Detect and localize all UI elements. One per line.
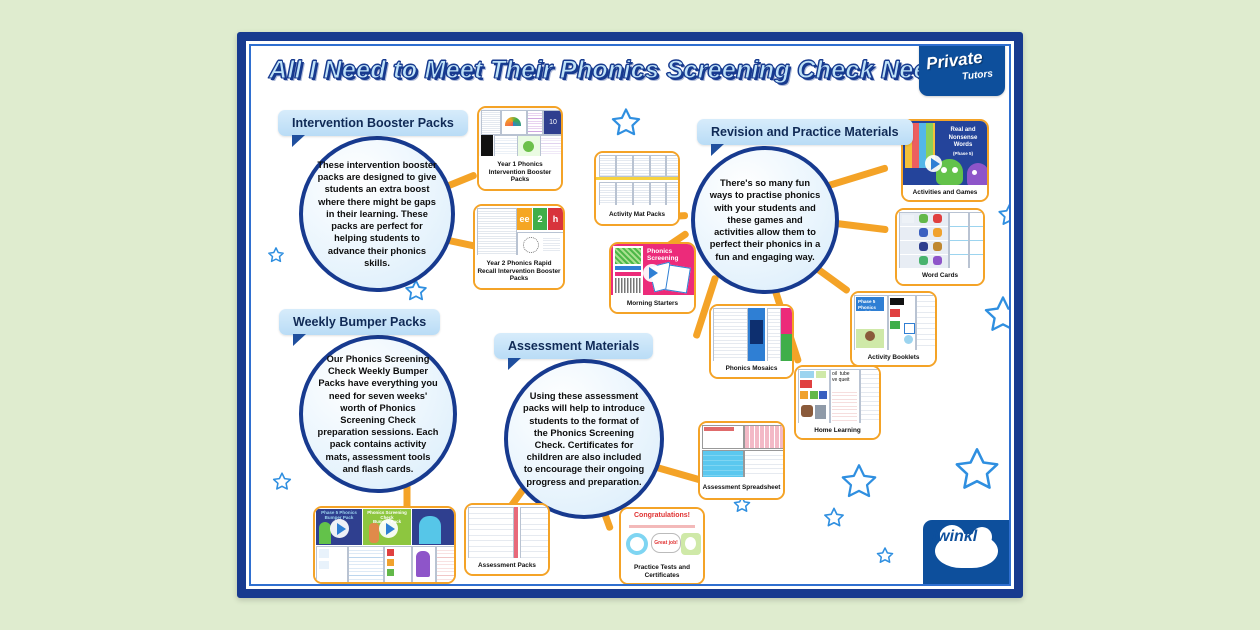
bubble-revision-and-practice-materials: There's so many fun ways to practise pho…	[691, 146, 839, 294]
thumbnail-caption: Home Learning	[796, 423, 879, 438]
star-icon	[875, 546, 895, 565]
tag-intervention-booster-packs[interactable]: Intervention Booster Packs	[278, 110, 468, 136]
thumbnail-activities-and-games[interactable]: Real andNonsense Words(Phase 5) Activiti…	[901, 119, 989, 202]
thumbnail-year-1-phonics-intervention-booster-packs[interactable]: 10 Year 1 Phonics Intervention Booster P…	[477, 106, 563, 191]
thumbnail-caption: Year 1 Phonics Intervention Booster Pack…	[479, 156, 561, 189]
star-icon	[838, 461, 880, 502]
star-icon	[822, 506, 846, 529]
twinkl-logo: twinkl	[923, 520, 1011, 586]
bubble-text: Our Phonics Screening Check Weekly Bumpe…	[303, 353, 453, 475]
play-icon[interactable]	[643, 264, 661, 282]
star-icon	[271, 471, 293, 492]
poster-canvas: All I Need to Meet Their Phonics Screeni…	[0, 0, 1260, 630]
star-icon	[951, 444, 1003, 495]
tag-label: Intervention Booster Packs	[292, 116, 454, 130]
tag-assessment-materials[interactable]: Assessment Materials	[494, 333, 653, 359]
thumbnail-word-cards[interactable]: Word Cards	[895, 208, 985, 286]
thumbnail-assessment-packs[interactable]: Assessment Packs	[464, 503, 550, 576]
thumbnail-caption: Word Cards	[897, 268, 983, 284]
thumbnail-caption: Assessment Spreadsheet	[700, 477, 783, 498]
star-icon	[267, 246, 285, 264]
thumbnail-morning-starters[interactable]: Phonics Screening Morning Starters	[609, 242, 696, 314]
star-icon	[996, 201, 1011, 228]
poster-inner: All I Need to Meet Their Phonics Screeni…	[249, 44, 1011, 586]
thumbnail-preview	[711, 306, 792, 363]
bubble-text: Using these assessment packs will help t…	[508, 390, 660, 488]
thumbnail-preview: Congratulations! Great job!	[621, 509, 703, 564]
tag-label: Revision and Practice Materials	[711, 125, 899, 139]
thumbnail-caption: Activity Booklets	[852, 350, 935, 365]
tag-label: Weekly Bumper Packs	[293, 315, 426, 329]
tag-weekly-bumper-packs[interactable]: Weekly Bumper Packs	[279, 309, 440, 335]
thumbnail-preview	[466, 505, 548, 560]
thumbnail-practice-tests-and-certificates[interactable]: Congratulations! Great job! Practice Tes…	[619, 507, 705, 585]
thumbnail-preview: Phase 5 Phonics Activity Booklet	[852, 293, 935, 352]
bubble-assessment-materials: Using these assessment packs will help t…	[504, 359, 664, 519]
bubble-text: There's so many fun ways to practise pho…	[695, 177, 835, 262]
thumbnail-preview	[596, 153, 678, 207]
page-title: All I Need to Meet Their Phonics Screeni…	[269, 56, 958, 85]
thumbnail-preview: Real andNonsense Words(Phase 5)	[903, 121, 987, 187]
tag-revision-and-practice-materials[interactable]: Revision and Practice Materials	[697, 119, 913, 145]
thumbnail-preview	[700, 423, 783, 481]
private-tutors-badge: Private Tutors	[919, 44, 1005, 96]
star-icon	[981, 293, 1011, 336]
thumbnail-preview: oil tubeve queit	[796, 367, 879, 425]
thumbnail-caption: Phonics Mosaics	[711, 361, 792, 377]
thumbnail-caption: Activity Mat Packs	[596, 205, 678, 224]
tag-label: Assessment Materials	[508, 339, 639, 353]
play-icon[interactable]	[379, 519, 398, 538]
thumbnail-preview: Phase 5 PhonicsBumper Pack Phonics Scree…	[315, 508, 454, 582]
thumbnail-home-learning[interactable]: oil tubeve queit Home Learning	[794, 365, 881, 440]
star-icon	[609, 106, 643, 139]
thumbnail-activity-mat-packs[interactable]: Activity Mat Packs	[594, 151, 680, 226]
thumbnail-caption: Activities and Games	[903, 185, 987, 200]
play-icon[interactable]	[925, 155, 942, 172]
poster-frame: All I Need to Meet Their Phonics Screeni…	[237, 32, 1023, 598]
bubble-intervention-booster-packs: These intervention booster packs are des…	[299, 136, 455, 292]
thumbnail-preview: Phonics Screening	[611, 244, 694, 297]
poster-header: All I Need to Meet Their Phonics Screeni…	[251, 46, 1009, 96]
thumbnail-assessment-spreadsheet[interactable]: Assessment Spreadsheet	[698, 421, 785, 500]
thumbnail-caption: Assessment Packs	[466, 558, 548, 574]
thumbnail-caption: Morning Starters	[611, 295, 694, 312]
brand-name-secondary: Tutors	[962, 68, 994, 82]
thumbnail-preview: ee 2 h	[475, 206, 563, 259]
thumbnail-preview	[897, 210, 983, 270]
bubble-weekly-bumper-packs: Our Phonics Screening Check Weekly Bumpe…	[299, 335, 457, 493]
thumbnail-caption: Year 2 Phonics Rapid Recall Intervention…	[475, 255, 563, 288]
thumbnail-preview: 10	[479, 108, 561, 160]
play-icon[interactable]	[330, 519, 349, 538]
thumbnail-phonics-mosaics[interactable]: Phonics Mosaics	[709, 304, 794, 379]
thumbnail-weekly-bumper-pack-video[interactable]: Phase 5 PhonicsBumper Pack Phonics Scree…	[313, 506, 456, 584]
bubble-text: These intervention booster packs are des…	[303, 159, 451, 269]
thumbnail-caption: Practice Tests and Certificates	[621, 561, 703, 583]
thumbnail-year-2-phonics-rapid-recall-intervention-booster-packs[interactable]: ee 2 h Year 2 Phonics Rapid Recall Inter…	[473, 204, 565, 290]
thumbnail-activity-booklets[interactable]: Phase 5 Phonics Activity Booklet Activit…	[850, 291, 937, 367]
twinkl-wordmark: twinkl	[923, 520, 986, 554]
